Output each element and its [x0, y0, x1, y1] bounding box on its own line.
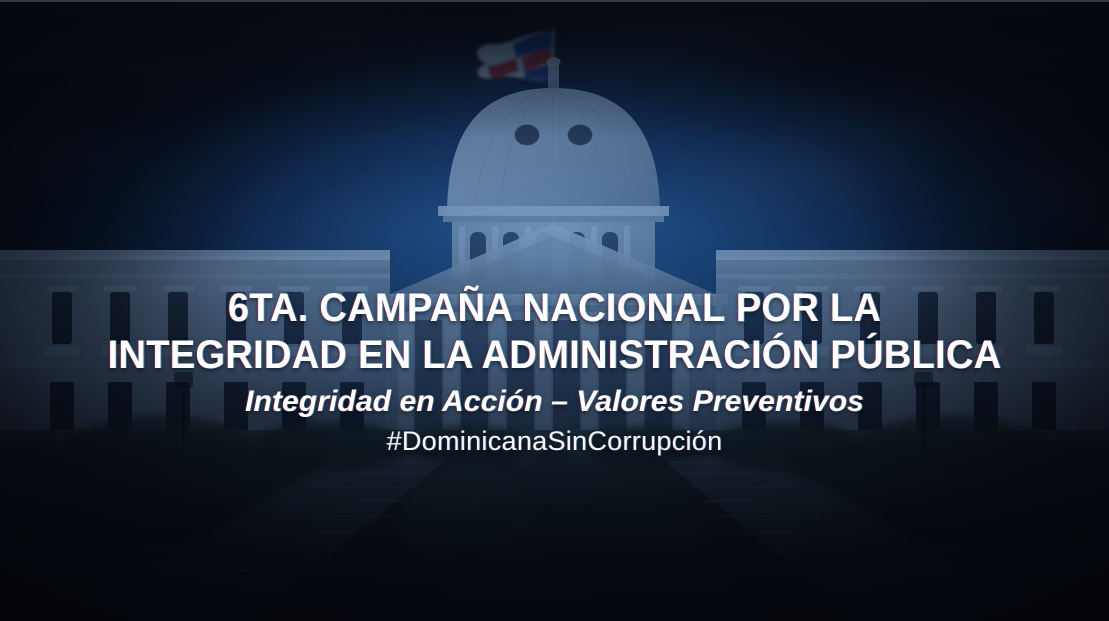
campaign-title-line-1: 6TA. CAMPAÑA NACIONAL POR LA [25, 288, 1084, 328]
campaign-text-block: 6TA. CAMPAÑA NACIONAL POR LA INTEGRIDAD … [0, 288, 1109, 455]
campaign-title-slide: 6TA. CAMPAÑA NACIONAL POR LA INTEGRIDAD … [0, 0, 1109, 621]
campaign-hashtag: #DominicanaSinCorrupción [0, 428, 1109, 455]
top-edge-line [0, 0, 1109, 2]
campaign-title-line-2: INTEGRIDAD EN LA ADMINISTRACIÓN PÚBLICA [25, 335, 1084, 375]
campaign-subtitle: Integridad en Acción – Valores Preventiv… [0, 387, 1109, 417]
